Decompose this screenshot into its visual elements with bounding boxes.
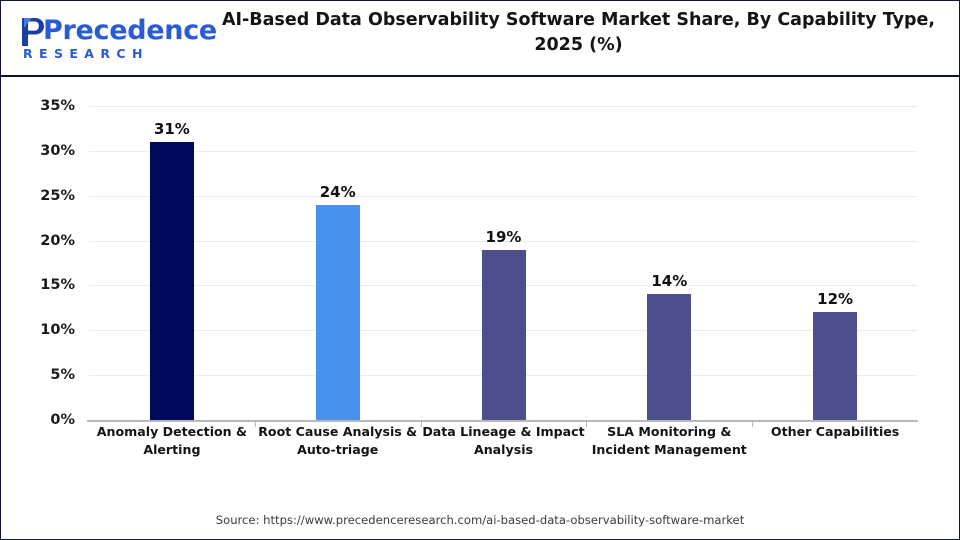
bar-value-label: 12% bbox=[817, 290, 853, 308]
bar-value-label: 14% bbox=[651, 272, 687, 290]
bar-chart: 31%24%19%14%12% Source: https://www.prec… bbox=[1, 77, 959, 539]
x-axis-category-label: Data Lineage & Impact Analysis bbox=[421, 423, 587, 459]
gridline bbox=[89, 196, 918, 197]
y-axis-tick-label: 30% bbox=[21, 143, 75, 159]
y-axis-tick-label: 25% bbox=[21, 188, 75, 204]
precedence-p-mark-icon bbox=[19, 17, 45, 47]
y-axis-tick-label: 0% bbox=[21, 412, 75, 428]
bar[interactable]: 19% bbox=[482, 250, 526, 420]
bar[interactable]: 14% bbox=[647, 294, 691, 420]
y-axis-tick-label: 15% bbox=[21, 277, 75, 293]
source-note: Source: https://www.precedenceresearch.c… bbox=[1, 513, 959, 527]
card-header: Precedence RESEARCH AI-Based Data Observ… bbox=[1, 1, 959, 77]
logo-wordmark: Precedence bbox=[43, 15, 217, 46]
y-axis-tick-label: 10% bbox=[21, 322, 75, 338]
chart-card: Precedence RESEARCH AI-Based Data Observ… bbox=[0, 0, 960, 540]
x-axis-line bbox=[87, 420, 918, 422]
precedence-research-logo: Precedence RESEARCH bbox=[15, 15, 215, 63]
bar-value-label: 31% bbox=[154, 120, 190, 138]
y-axis-tick-label: 5% bbox=[21, 367, 75, 383]
bar[interactable]: 12% bbox=[813, 312, 857, 420]
x-axis-category-label: Anomaly Detection & Alerting bbox=[89, 423, 255, 459]
gridline bbox=[89, 106, 918, 107]
gridline bbox=[89, 151, 918, 152]
page-title: AI-Based Data Observability Software Mar… bbox=[216, 8, 941, 58]
x-axis-category-label: Other Capabilities bbox=[752, 423, 918, 441]
y-axis-tick-label: 35% bbox=[21, 98, 75, 114]
y-axis-tick-label: 20% bbox=[21, 233, 75, 249]
plot-area: 31%24%19%14%12% bbox=[89, 106, 918, 420]
x-axis-category-label: SLA Monitoring & Incident Management bbox=[586, 423, 752, 459]
bar[interactable]: 24% bbox=[316, 205, 360, 420]
bar[interactable]: 31% bbox=[150, 142, 194, 420]
x-axis-category-label: Root Cause Analysis & Auto-triage bbox=[255, 423, 421, 459]
bar-value-label: 24% bbox=[320, 183, 356, 201]
bar-value-label: 19% bbox=[486, 228, 522, 246]
logo-subtitle: RESEARCH bbox=[23, 46, 149, 61]
